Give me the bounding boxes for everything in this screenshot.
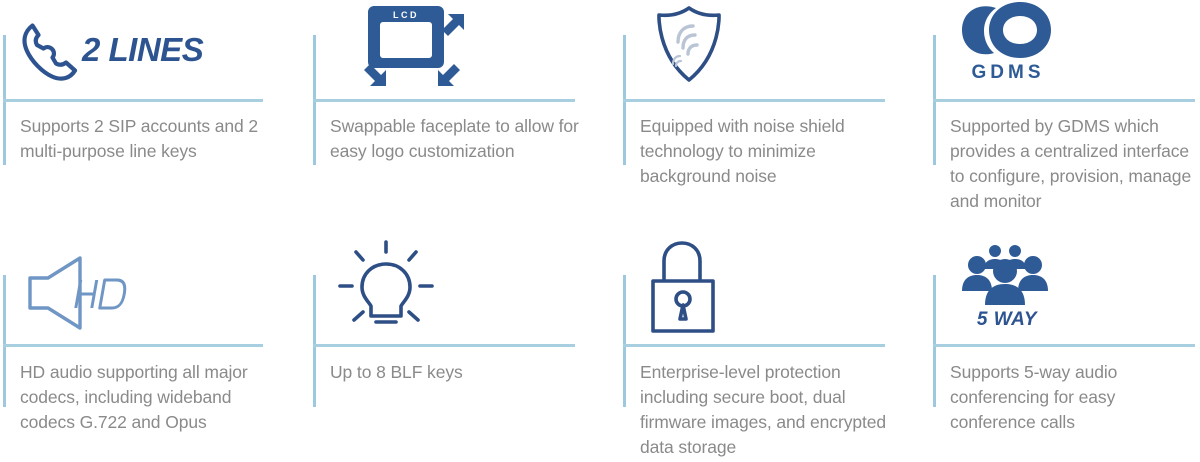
feature-caption: Supports 5-way audio conferencing for ea… (950, 360, 1195, 435)
lightbulb-blf-icon (332, 238, 440, 336)
divider-vertical (3, 275, 6, 407)
feature-caption: Supported by GDMS which provides a centr… (950, 114, 1195, 214)
divider-horizontal (623, 99, 885, 102)
icon-area (646, 234, 918, 339)
feature-caption: HD audio supporting all major codecs, in… (20, 360, 288, 435)
divider-horizontal (313, 344, 575, 347)
gdms-cloud-logo-icon (958, 0, 1058, 62)
icon-area (332, 234, 604, 339)
icon-area: LCD (338, 0, 610, 98)
divider-horizontal (313, 99, 575, 102)
hd-audio-speaker-icon (22, 250, 138, 336)
phone-handset-2-lines-icon (18, 18, 80, 82)
feature-cell-5-way: 5 WAY Supports 5-way audio conferencing … (930, 240, 1200, 462)
feature-cell-hd-audio: HD audio supporting all major codecs, in… (0, 240, 310, 462)
noise-shield-icon (648, 2, 730, 90)
icon-area (22, 240, 294, 345)
feature-caption: Equipped with noise shield technology to… (640, 114, 908, 189)
feature-cell-2-lines: 2 LINES Supports 2 SIP accounts and 2 mu… (0, 0, 310, 240)
divider-horizontal (933, 99, 1195, 102)
badge-label: 5 WAY (977, 309, 1037, 331)
lcd-faceplate-swap-icon: LCD (338, 2, 468, 94)
padlock-security-icon (646, 239, 720, 335)
icon-area: 5 WAY (960, 234, 1200, 339)
divider-horizontal (933, 344, 1195, 347)
divider-vertical (313, 275, 316, 407)
feature-grid: 2 LINES Supports 2 SIP accounts and 2 mu… (0, 0, 1200, 462)
icon-area: 2 LINES (18, 0, 290, 100)
feature-cell-noise-shield: Equipped with noise shield technology to… (620, 0, 930, 240)
icon-area: GDMS (958, 0, 1200, 92)
badge-label: 2 LINES (82, 31, 203, 69)
feature-caption: Supports 2 SIP accounts and 2 multi-purp… (20, 114, 288, 164)
feature-cell-blf-keys: Up to 8 BLF keys (310, 240, 620, 462)
divider-vertical (623, 275, 626, 407)
divider-horizontal (623, 344, 885, 347)
feature-cell-faceplate: LCD Swappable faceplate to allow for eas… (310, 0, 620, 240)
feature-cell-security: Enterprise-level protection including se… (620, 240, 930, 462)
divider-vertical (933, 275, 936, 407)
feature-caption: Up to 8 BLF keys (330, 360, 598, 385)
conference-group-5-way-icon (960, 243, 1054, 309)
svg-text:LCD: LCD (393, 10, 419, 20)
badge-label: GDMS (972, 62, 1045, 84)
feature-cell-gdms: GDMS Supported by GDMS which provides a … (930, 0, 1200, 240)
icon-area (648, 0, 920, 96)
feature-caption: Swappable faceplate to allow for easy lo… (330, 114, 598, 164)
feature-caption: Enterprise-level protection including se… (640, 360, 908, 460)
